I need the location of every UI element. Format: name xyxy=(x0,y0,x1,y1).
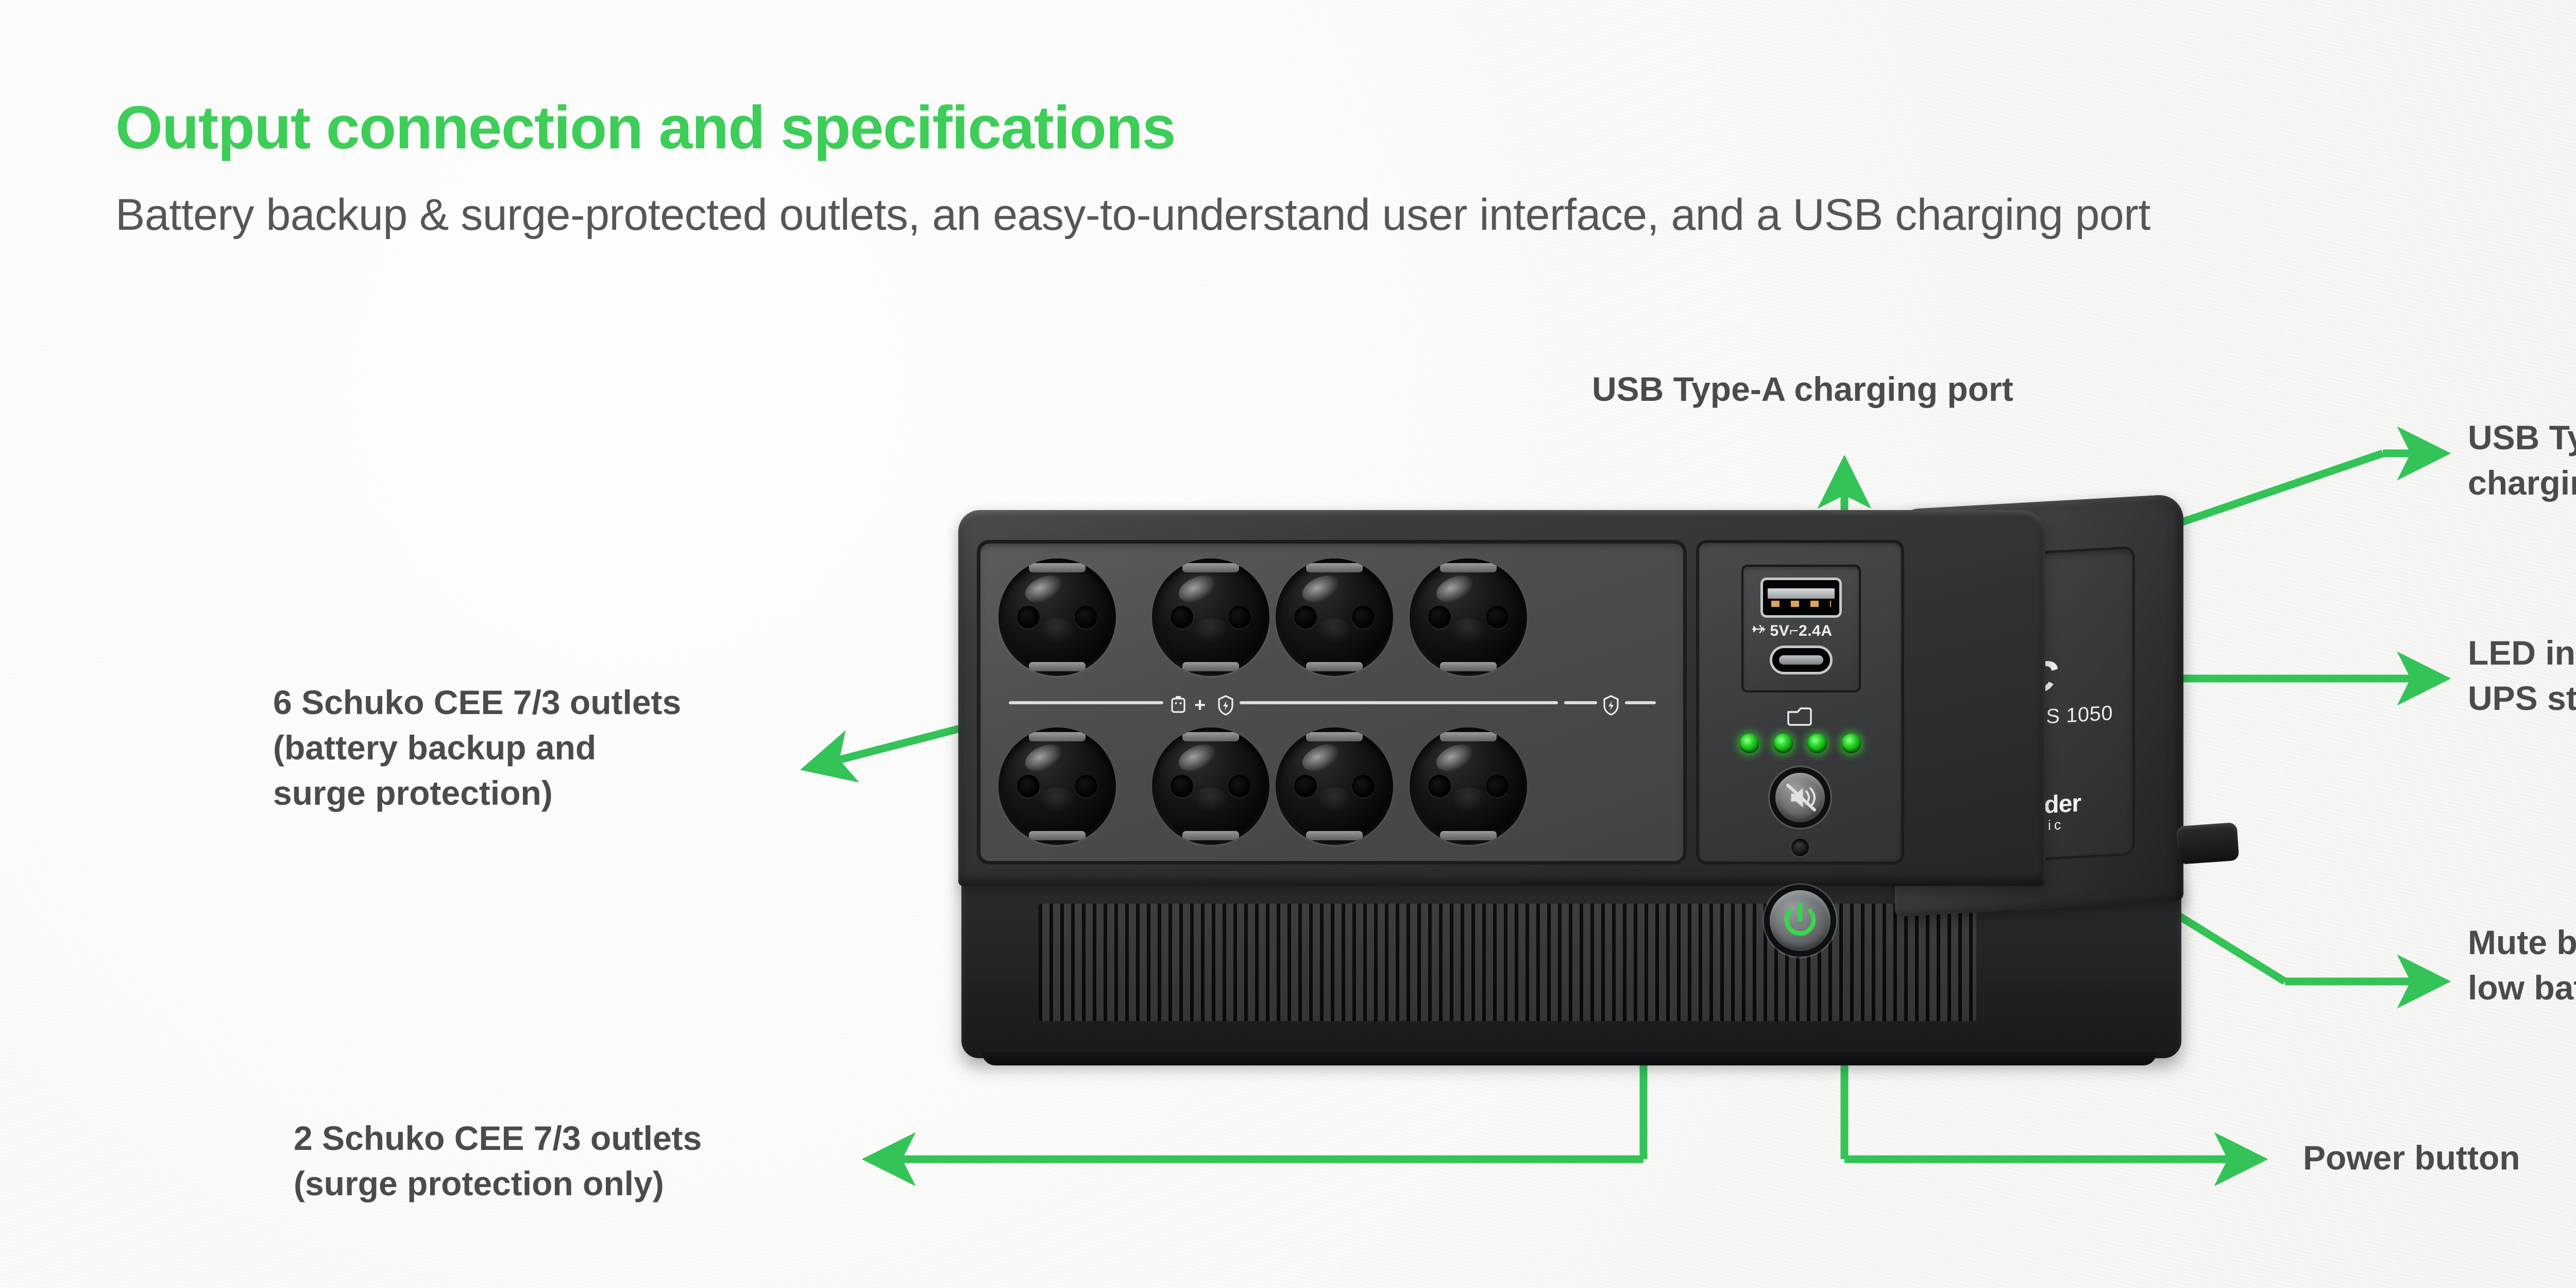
mute-speaker-icon xyxy=(1775,773,1825,822)
led-indicator-4 xyxy=(1841,734,1861,753)
socket-pin-left xyxy=(1017,775,1040,798)
socket-4[interactable] xyxy=(1410,558,1527,676)
usb-c-tongue xyxy=(1779,655,1823,665)
divider-rule-middle xyxy=(1240,701,1558,704)
socket-dimple xyxy=(1317,618,1352,644)
divider-rule-right xyxy=(1625,701,1656,704)
zone-plus-sign: + xyxy=(1194,695,1206,716)
outlet-zone-divider: + xyxy=(1009,694,1656,710)
socket-6[interactable] xyxy=(1152,727,1269,845)
socket-highlight xyxy=(1298,740,1345,777)
socket-pin-left xyxy=(1294,775,1317,798)
socket-pin-right xyxy=(1352,606,1375,629)
callout-led-indicators: LED indicators for UPS status xyxy=(2468,631,2576,721)
socket-dimple xyxy=(1193,618,1228,644)
socket-pin-left xyxy=(1017,606,1040,629)
led-indicator-1 xyxy=(1739,734,1759,753)
socket-pin-right xyxy=(1075,775,1097,798)
battery-status-icon xyxy=(1785,707,1815,728)
socket-pin-left xyxy=(1294,606,1317,629)
socket-highlight xyxy=(1175,571,1221,608)
socket-dimple xyxy=(1451,618,1486,644)
reset-pinhole[interactable] xyxy=(1791,839,1809,856)
power-button[interactable] xyxy=(1770,890,1831,951)
socket-dimple xyxy=(1040,618,1075,644)
socket-pin-right xyxy=(1486,775,1509,798)
usb-a-contacts xyxy=(1771,601,1831,607)
callout-outlets-battery-backup: 6 Schuko CEE 7/3 outlets (battery backup… xyxy=(273,680,681,816)
surge-shield-icon-backup-zone xyxy=(1217,694,1234,716)
usb-type-c-port[interactable] xyxy=(1772,648,1830,672)
socket-pin-left xyxy=(1428,775,1451,798)
socket-pin-left xyxy=(1171,775,1193,798)
callout-usb-type-a: USB Type-A charging port xyxy=(1592,367,2013,412)
socket-pin-left xyxy=(1171,606,1193,629)
outlet-faceplate: + xyxy=(977,540,1687,865)
led-indicator-2 xyxy=(1773,734,1793,753)
ventilation-grille xyxy=(1039,904,1976,1021)
socket-pin-right xyxy=(1228,775,1251,798)
socket-7[interactable] xyxy=(1276,727,1393,845)
callout-outlets-surge-only: 2 Schuko CEE 7/3 outlets (surge protecti… xyxy=(294,1116,702,1207)
ups-device: APC Back-UPS 1050 Schneider Electric xyxy=(958,510,2293,1077)
divider-rule-surge-left xyxy=(1564,701,1597,704)
device-foot xyxy=(982,1052,2157,1065)
socket-highlight xyxy=(1021,740,1067,777)
socket-pin-right xyxy=(1486,606,1509,629)
socket-5[interactable] xyxy=(998,727,1116,845)
surge-shield-icon-surge-zone xyxy=(1602,694,1620,716)
socket-pin-right xyxy=(1228,606,1251,629)
socket-dimple xyxy=(1040,787,1075,813)
socket-pin-right xyxy=(1075,606,1097,629)
socket-dimple xyxy=(1193,787,1228,813)
socket-highlight xyxy=(1432,740,1479,777)
usb-a-tongue xyxy=(1768,588,1835,599)
page-subtitle: Battery backup & surge-protected outlets… xyxy=(115,190,2150,241)
divider-rule-left xyxy=(1009,701,1163,704)
socket-highlight xyxy=(1021,571,1067,608)
socket-3[interactable] xyxy=(1276,558,1393,676)
control-panel: 5V⌐2.4A xyxy=(1696,540,1904,865)
socket-dimple xyxy=(1317,787,1352,813)
led-indicator-row xyxy=(1739,734,1861,753)
socket-1[interactable] xyxy=(998,558,1116,676)
usb-charging-block: 5V⌐2.4A xyxy=(1741,565,1861,692)
socket-highlight xyxy=(1298,571,1345,608)
socket-pin-left xyxy=(1428,606,1451,629)
usb-type-a-port[interactable] xyxy=(1763,580,1839,615)
socket-highlight xyxy=(1175,740,1221,777)
power-icon xyxy=(1770,890,1831,951)
socket-8[interactable] xyxy=(1410,727,1527,845)
callout-power-button: Power button xyxy=(2303,1136,2520,1181)
mute-button[interactable] xyxy=(1775,773,1825,822)
socket-dimple xyxy=(1451,787,1486,813)
socket-highlight xyxy=(1432,571,1479,608)
page-title: Output connection and specifications xyxy=(115,93,1175,163)
socket-2[interactable] xyxy=(1152,558,1269,676)
callout-usb-type-c: USB Type-C charging port xyxy=(2468,415,2576,506)
usb-power-rating-label: 5V⌐2.4A xyxy=(1741,622,1861,640)
socket-pin-right xyxy=(1352,775,1375,798)
power-cord-stub xyxy=(2176,822,2240,865)
led-indicator-3 xyxy=(1807,734,1827,753)
battery-backup-icon xyxy=(1170,694,1187,716)
device-top-shell: + xyxy=(958,510,2045,886)
callout-mute-button: Mute button to silent low battery alarm xyxy=(2468,920,2576,1011)
